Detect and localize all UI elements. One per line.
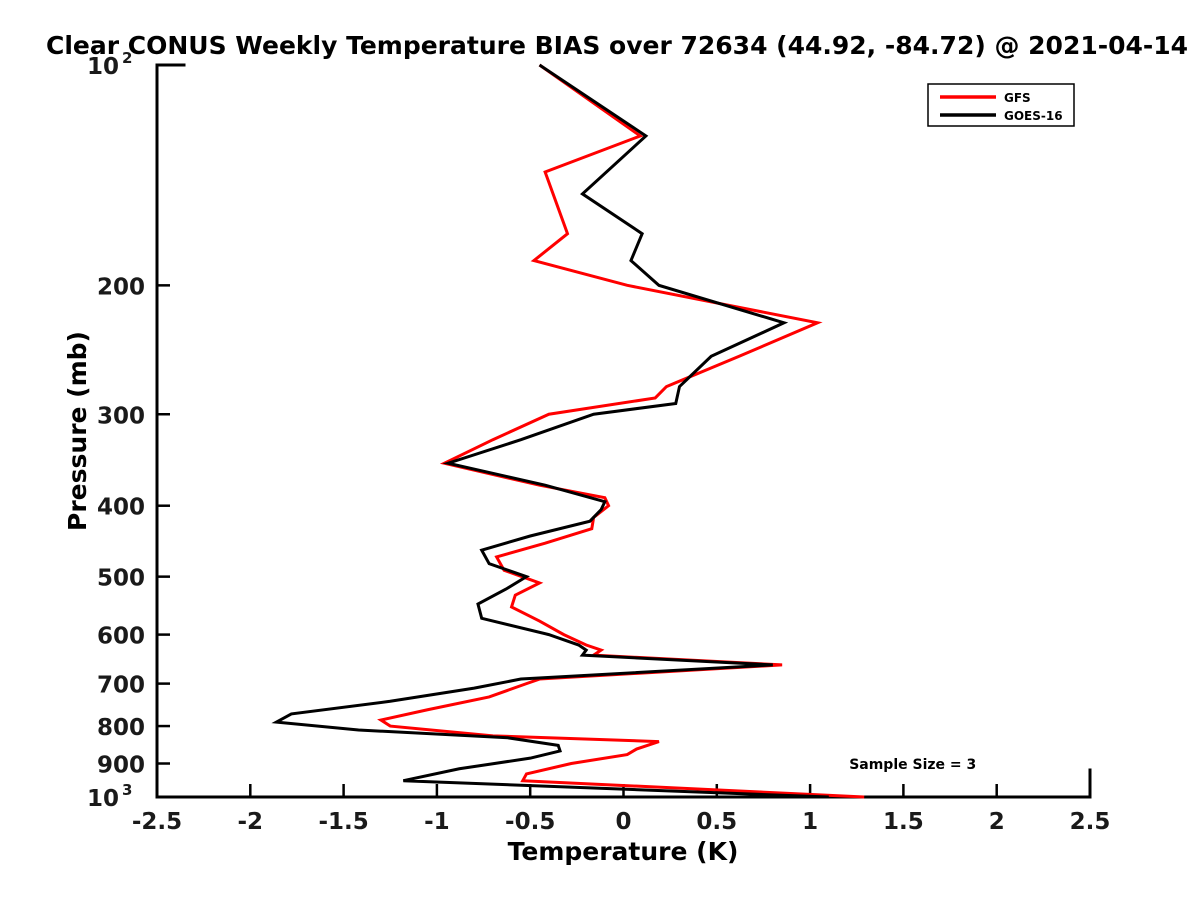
y-tick-label: 400 [97, 495, 145, 521]
legend-label-goes16: GOES-16 [1004, 109, 1063, 123]
y-tick-label: 600 [97, 624, 145, 650]
svg-text:2: 2 [122, 49, 132, 67]
svg-text:3: 3 [122, 781, 132, 799]
axis-frame-lines [157, 65, 1090, 797]
x-tick-label: -1.5 [318, 809, 368, 835]
x-axis-ticks: -2.5-2-1.5-1-0.500.511.522.5 [132, 784, 1111, 835]
y-tick-label: 300 [97, 403, 145, 429]
x-tick-label: -1 [424, 809, 450, 835]
data-series-group [276, 65, 864, 797]
x-tick-label: 0.5 [696, 809, 737, 835]
legend-label-gfs: GFS [1004, 91, 1031, 105]
y-tick-label: 500 [97, 566, 145, 592]
series-line-gfs [381, 65, 864, 797]
x-tick-label: -2 [238, 809, 264, 835]
svg-text:10: 10 [87, 786, 119, 812]
x-axis-label: Temperature (K) [508, 837, 739, 866]
x-tick-label: 1.5 [883, 809, 924, 835]
y-tick-label: 200 [97, 274, 145, 300]
x-tick-label: -2.5 [132, 809, 182, 835]
x-tick-label: 2.5 [1070, 809, 1111, 835]
temperature-bias-plot: Clear CONUS Weekly Temperature BIAS over… [0, 0, 1200, 900]
figure-container: Clear CONUS Weekly Temperature BIAS over… [0, 0, 1200, 900]
chart-legend[interactable]: GFS GOES-16 [928, 84, 1074, 126]
x-tick-label: -0.5 [505, 809, 555, 835]
y-tick-label: 103 [87, 781, 132, 812]
svg-text:10: 10 [87, 54, 119, 80]
y-tick-label: 700 [97, 673, 145, 699]
x-tick-label: 1 [802, 809, 818, 835]
series-line-goes-16 [276, 65, 828, 797]
y-tick-label: 800 [97, 715, 145, 741]
axes [157, 65, 1090, 797]
x-tick-label: 0 [615, 809, 631, 835]
chart-annotation: Sample Size = 3 [849, 757, 976, 773]
y-tick-label: 900 [97, 753, 145, 779]
annotations-group: Sample Size = 3 [849, 757, 976, 773]
x-tick-label: 2 [989, 809, 1005, 835]
y-tick-label: 102 [87, 49, 132, 80]
chart-title: Clear CONUS Weekly Temperature BIAS over… [46, 31, 1188, 60]
y-axis-label: Pressure (mb) [63, 331, 92, 531]
